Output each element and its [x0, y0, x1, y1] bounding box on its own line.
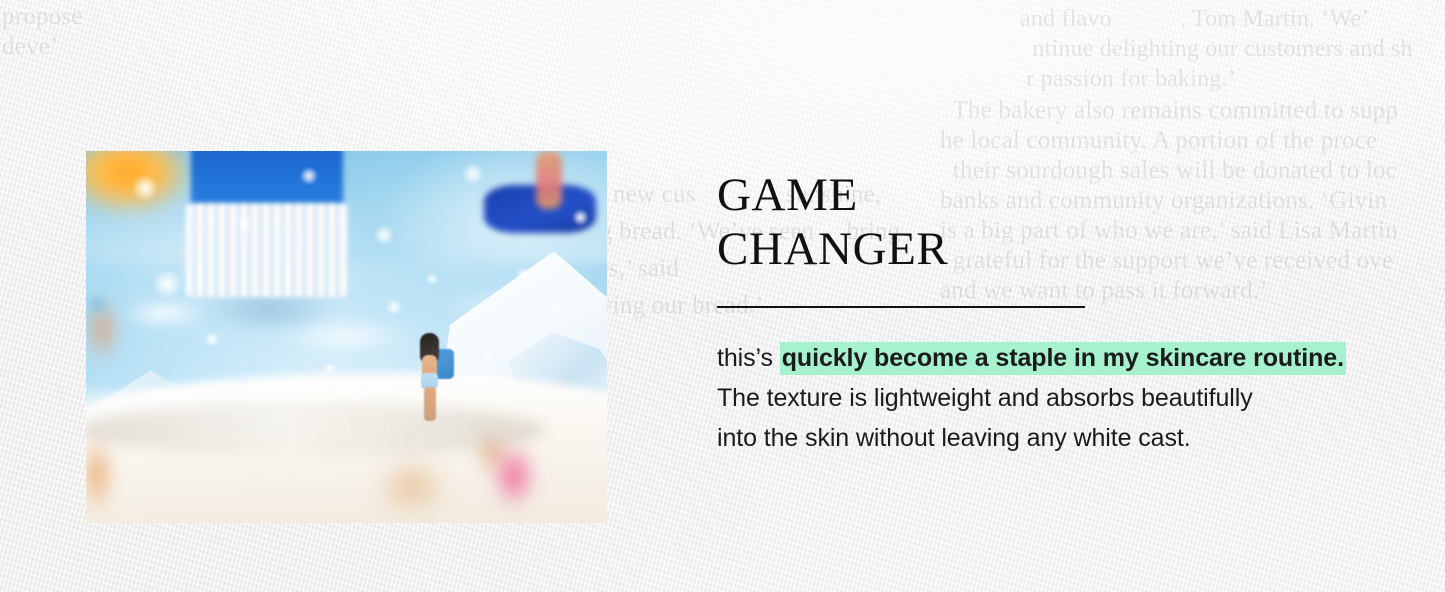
photo-bokeh-dot: [152, 269, 182, 299]
photo-bokeh-dot: [552, 301, 563, 312]
headline-line-1: GAME: [717, 168, 1377, 222]
body-line-1: this’s quickly become a staple in my ski…: [717, 338, 1377, 378]
background-newsprint-pull-quote: and flavo . Tom Martin. ‘We’ ntinue deli…: [1020, 4, 1413, 94]
photo-bokeh-dot: [374, 225, 394, 245]
product-photo: [86, 151, 607, 523]
body-line-3: into the skin without leaving any white …: [717, 418, 1377, 458]
photo-bokeh-dot: [132, 175, 158, 201]
page-title: GAME CHANGER: [717, 168, 1377, 276]
photo-bokeh-dot: [300, 167, 318, 185]
body-lede-plain: this’s: [717, 344, 780, 372]
photo-raft-figurine: [536, 151, 562, 209]
photo-figurine-left-lower: [86, 419, 120, 523]
photo-bokeh-dot: [462, 163, 484, 185]
photo-bokeh-dot: [482, 347, 495, 360]
body-lede-highlight: quickly become a staple in my skincare r…: [780, 342, 1346, 375]
photo-figurine-foreground-tan: [364, 447, 460, 523]
photo-bokeh-dot: [426, 273, 438, 285]
background-newsprint-top-left: propose deve’: [2, 2, 83, 62]
photo-bokeh-dot: [324, 363, 336, 375]
photo-bokeh-dot: [386, 299, 402, 315]
photo-figurine-foreground-pink: [484, 433, 544, 519]
photo-bokeh-dot: [204, 331, 220, 347]
photo-bottle-cap-white-band: [186, 203, 348, 297]
headline-line-2: CHANGER: [717, 222, 1377, 276]
photo-bokeh-dot: [238, 217, 252, 231]
review-body: this’s quickly become a staple in my ski…: [717, 338, 1377, 458]
photo-bokeh-dot: [572, 209, 589, 226]
divider: [717, 306, 1085, 308]
photo-figurine-legs: [424, 387, 436, 421]
editorial-column: GAME CHANGER this’s quickly become a sta…: [717, 168, 1377, 458]
photo-bokeh-dot: [516, 267, 530, 281]
review-banner: propose deve’ new cus sunshine, g bread.…: [0, 0, 1445, 592]
photo-figurine-left-swimsuit: [86, 293, 112, 317]
body-line-2: The texture is lightweight and absorbs b…: [717, 378, 1377, 418]
